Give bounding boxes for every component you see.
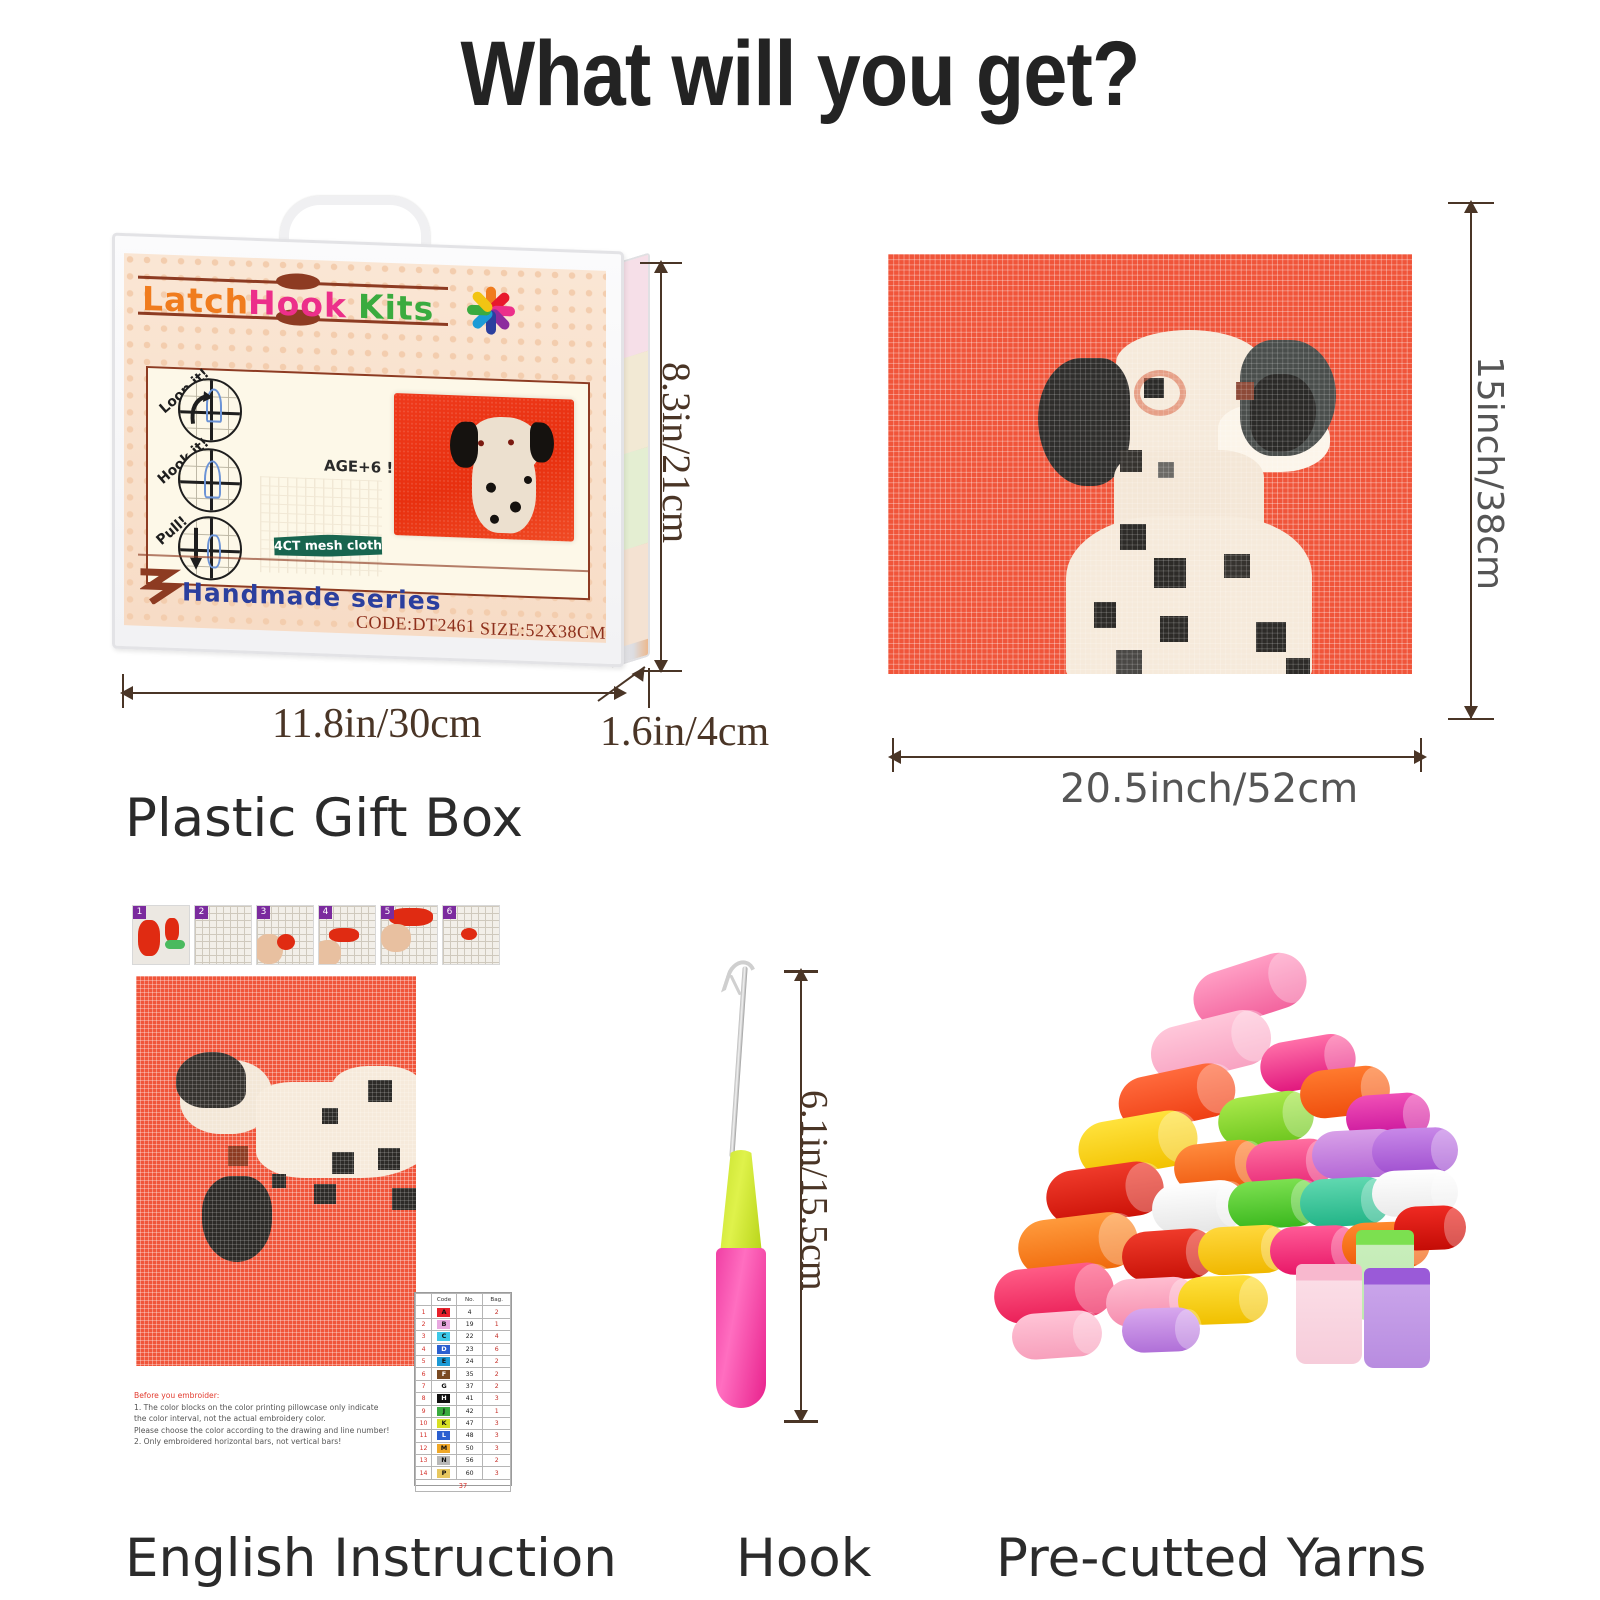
page-title: What will you get? bbox=[112, 22, 1488, 127]
legend-number: 47 bbox=[456, 1417, 483, 1429]
dim-tick bbox=[784, 970, 818, 973]
age-tag: AGE+6 ! bbox=[324, 456, 393, 477]
caption-instruction: English Instruction bbox=[125, 1528, 617, 1589]
legend-index: 4 bbox=[416, 1343, 432, 1355]
legend-swatch: D bbox=[437, 1345, 450, 1354]
step-diagram-loop bbox=[178, 377, 242, 443]
legend-number: 42 bbox=[456, 1405, 483, 1417]
legend-row: 10K473 bbox=[416, 1417, 511, 1429]
legend-swatch: J bbox=[437, 1407, 450, 1416]
legend-color-code: E bbox=[432, 1355, 457, 1367]
dim-label-canvas-width: 20.5inch/52cm bbox=[1060, 766, 1358, 812]
legend-number: 41 bbox=[456, 1393, 483, 1405]
legend-index: 8 bbox=[416, 1393, 432, 1405]
step-thumbnail: 1 bbox=[132, 905, 190, 965]
legend-bag: 1 bbox=[483, 1318, 511, 1330]
thumb-yarn bbox=[165, 918, 179, 942]
legend-number: 50 bbox=[456, 1442, 483, 1454]
instruction-chart bbox=[136, 976, 416, 1366]
legend-number: 4 bbox=[456, 1306, 483, 1318]
legend-swatch: B bbox=[437, 1320, 450, 1329]
legend-index: 9 bbox=[416, 1405, 432, 1417]
legend-swatch: C bbox=[437, 1332, 450, 1341]
notice-line: the color interval, not the actual embro… bbox=[134, 1413, 402, 1425]
legend-swatch: A bbox=[437, 1308, 450, 1317]
step-thumbnail: 6 bbox=[442, 905, 500, 965]
hook-handle-upper bbox=[720, 1150, 762, 1254]
legend-color-code: F bbox=[432, 1368, 457, 1380]
caption-yarns: Pre-cutted Yarns bbox=[996, 1528, 1426, 1589]
legend-color-code: M bbox=[432, 1442, 457, 1454]
legend-swatch: F bbox=[437, 1370, 450, 1379]
legend-index: 11 bbox=[416, 1430, 432, 1442]
yarn-roll bbox=[1011, 1309, 1104, 1361]
notice-heading: Before you embroider: bbox=[134, 1390, 402, 1402]
color-legend-table: Code No. Bag. 1A422B1913C2244D2365E2426F… bbox=[414, 1292, 512, 1486]
legend-color-code: L bbox=[432, 1430, 457, 1442]
legend-bag: 3 bbox=[483, 1442, 511, 1454]
thumb-number: 6 bbox=[443, 906, 456, 919]
box-front-artwork: Latch Hook Kits Loop it! bbox=[124, 253, 606, 643]
legend-bag: 1 bbox=[483, 1405, 511, 1417]
legend-index: 2 bbox=[416, 1318, 432, 1330]
diagram-arrow-down-icon bbox=[180, 517, 240, 579]
legend-number: 19 bbox=[456, 1318, 483, 1330]
notice-line: 2. Only embroidered horizontal bars, not… bbox=[134, 1436, 402, 1448]
legend-bag: 3 bbox=[483, 1430, 511, 1442]
gift-box-illustration: Latch Hook Kits Loop it! bbox=[112, 196, 652, 666]
dim-label-box-width: 11.8in/30cm bbox=[272, 700, 482, 748]
dog-ear-right bbox=[530, 422, 554, 463]
legend-number: 37 bbox=[456, 1380, 483, 1392]
brand-word-kits: Kits bbox=[358, 287, 434, 329]
legend-number: 24 bbox=[456, 1355, 483, 1367]
legend-total: 37 bbox=[416, 1479, 511, 1491]
legend-row: 13N562 bbox=[416, 1455, 511, 1467]
mesh-ribbon-label: 4CT mesh cloth bbox=[274, 534, 383, 557]
pre-cut-yarn-pile bbox=[960, 930, 1460, 1430]
step-thumbnail: 3 bbox=[256, 905, 314, 965]
dim-tick bbox=[784, 1420, 818, 1423]
legend-index: 6 bbox=[416, 1368, 432, 1380]
legend-number: 56 bbox=[456, 1455, 483, 1467]
legend-bag: 2 bbox=[483, 1355, 511, 1367]
dim-tick bbox=[640, 262, 682, 264]
before-you-embroider-notice: Before you embroider: 1. The color block… bbox=[134, 1390, 402, 1448]
dog-spot bbox=[490, 515, 499, 524]
yarn-bundle-purple bbox=[1364, 1268, 1430, 1368]
dim-line-canvas-width bbox=[894, 756, 1422, 758]
legend-index: 3 bbox=[416, 1331, 432, 1343]
step-diagram-hook bbox=[178, 447, 242, 513]
legend-row: 12M503 bbox=[416, 1442, 511, 1454]
legend-color-code: J bbox=[432, 1405, 457, 1417]
thumb-number: 1 bbox=[133, 906, 146, 919]
dog-spot bbox=[524, 476, 532, 484]
legend-row: 9J421 bbox=[416, 1405, 511, 1417]
thumb-number: 2 bbox=[195, 906, 208, 919]
thumb-yarn bbox=[277, 934, 295, 950]
legend-bag: 2 bbox=[483, 1306, 511, 1318]
legend-row: 5E242 bbox=[416, 1355, 511, 1367]
legend-bag: 2 bbox=[483, 1368, 511, 1380]
legend-swatch: P bbox=[437, 1469, 450, 1478]
zigzag-decoration-icon bbox=[140, 566, 182, 606]
latch-hook-canvas bbox=[888, 254, 1412, 674]
thumb-yarn bbox=[461, 928, 477, 940]
legend-swatch: H bbox=[437, 1394, 450, 1403]
thumb-number: 5 bbox=[381, 906, 394, 919]
legend-swatch: G bbox=[437, 1382, 450, 1391]
legend-head-no: No. bbox=[456, 1294, 483, 1306]
step-thumbnail: 2 bbox=[194, 905, 252, 965]
legend-index: 10 bbox=[416, 1417, 432, 1429]
legend-row: 1A42 bbox=[416, 1306, 511, 1318]
legend-color-code: K bbox=[432, 1417, 457, 1429]
yarn-bundle-pink bbox=[1296, 1264, 1362, 1364]
english-instruction-sheet: 1 2 3 4 5 bbox=[122, 900, 522, 1500]
legend-bag: 2 bbox=[483, 1455, 511, 1467]
legend-head-idx bbox=[416, 1294, 432, 1306]
dog-spot bbox=[510, 501, 521, 512]
hook-handle-lower bbox=[716, 1248, 766, 1408]
box-inner-panel: Loop it! Hook it! bbox=[146, 366, 590, 600]
legend-head-code: Code bbox=[432, 1294, 457, 1306]
hook-tip-icon bbox=[721, 956, 761, 1001]
dim-label-canvas-height: 15inch/38cm bbox=[1469, 356, 1510, 590]
dim-tick bbox=[648, 668, 650, 708]
chart-grid-overlay bbox=[136, 976, 416, 1366]
dog-ear-left bbox=[450, 421, 478, 468]
thumb-hand bbox=[381, 924, 411, 952]
notice-line: 1. The color blocks on the color printin… bbox=[134, 1402, 402, 1414]
legend-swatch: L bbox=[437, 1431, 450, 1440]
legend-header-row: Code No. Bag. bbox=[416, 1294, 511, 1306]
legend-color-code: P bbox=[432, 1467, 457, 1479]
legend-row: 6F352 bbox=[416, 1368, 511, 1380]
legend-swatch: K bbox=[437, 1419, 450, 1428]
legend-row: 7G372 bbox=[416, 1380, 511, 1392]
legend-number: 48 bbox=[456, 1430, 483, 1442]
dog-spot bbox=[486, 482, 496, 492]
legend-number: 35 bbox=[456, 1368, 483, 1380]
legend-color-code: G bbox=[432, 1380, 457, 1392]
notice-line: Please choose the color according to the… bbox=[134, 1425, 402, 1437]
step-thumbnail: 4 bbox=[318, 905, 376, 965]
legend-color-code: H bbox=[432, 1393, 457, 1405]
legend-row: 4D236 bbox=[416, 1343, 511, 1355]
dog-eye-left bbox=[478, 440, 484, 446]
infographic-page: What will you get? Latch Hook Kits bbox=[0, 0, 1600, 1600]
legend-number: 23 bbox=[456, 1343, 483, 1355]
legend-color-code: C bbox=[432, 1331, 457, 1343]
legend-row: 2B191 bbox=[416, 1318, 511, 1330]
dim-tick bbox=[1448, 718, 1494, 720]
legend-bag: 6 bbox=[483, 1343, 511, 1355]
legend-body: 1A422B1913C2244D2365E2426F3527G3728H4139… bbox=[416, 1306, 511, 1492]
legend-bag: 2 bbox=[483, 1380, 511, 1392]
legend-swatch: N bbox=[437, 1456, 450, 1465]
legend-row: 11L483 bbox=[416, 1430, 511, 1442]
step-thumbnail-strip: 1 2 3 4 5 bbox=[132, 905, 500, 965]
product-code: CODE:DT2461 bbox=[356, 612, 476, 637]
diagram-arrow-icon bbox=[180, 379, 240, 441]
pinwheel-logo-icon bbox=[464, 284, 516, 338]
legend-bag: 3 bbox=[483, 1417, 511, 1429]
thumb-number: 3 bbox=[257, 906, 270, 919]
yarn-roll bbox=[1121, 1307, 1200, 1354]
legend-bag: 3 bbox=[483, 1467, 511, 1479]
legend-index: 1 bbox=[416, 1306, 432, 1318]
thumb-yarn bbox=[138, 920, 160, 956]
dim-tick bbox=[122, 674, 124, 708]
dim-tick bbox=[1420, 738, 1422, 772]
legend-head-bag: Bag. bbox=[483, 1294, 511, 1306]
dim-line-box-width bbox=[124, 692, 624, 694]
legend-color-code: N bbox=[432, 1455, 457, 1467]
dim-tick bbox=[1448, 202, 1494, 204]
legend-index: 14 bbox=[416, 1467, 432, 1479]
thumb-tool bbox=[165, 940, 185, 949]
legend-total-row: 37 bbox=[416, 1479, 511, 1491]
thumb-number: 4 bbox=[319, 906, 332, 919]
legend-bag: 4 bbox=[483, 1331, 511, 1343]
legend-row: 3C224 bbox=[416, 1331, 511, 1343]
caption-hook: Hook bbox=[736, 1528, 871, 1589]
brand-word-hook: Hook bbox=[248, 283, 347, 326]
product-preview-photo bbox=[394, 393, 574, 542]
step-diagram-pull bbox=[178, 515, 242, 581]
legend-index: 7 bbox=[416, 1380, 432, 1392]
legend-swatch: E bbox=[437, 1357, 450, 1366]
legend-row: 14P603 bbox=[416, 1467, 511, 1479]
legend-row: 8H413 bbox=[416, 1393, 511, 1405]
dog-eye-right bbox=[508, 439, 514, 445]
dim-label-box-height: 8.3in/21cm bbox=[653, 362, 700, 543]
caption-gift-box: Plastic Gift Box bbox=[125, 788, 523, 849]
yarn-roll bbox=[1371, 1127, 1459, 1176]
legend-index: 13 bbox=[416, 1455, 432, 1467]
legend-index: 12 bbox=[416, 1442, 432, 1454]
step-thumbnail: 5 bbox=[380, 905, 438, 965]
dim-label-box-depth: 1.6in/4cm bbox=[600, 708, 769, 756]
diagram-yarn bbox=[204, 460, 221, 499]
thumb-hand bbox=[318, 940, 341, 965]
legend-number: 22 bbox=[456, 1331, 483, 1343]
legend-index: 5 bbox=[416, 1355, 432, 1367]
legend-bag: 3 bbox=[483, 1393, 511, 1405]
legend-color-code: B bbox=[432, 1318, 457, 1330]
legend-grid: Code No. Bag. 1A422B1913C2244D2365E2426F… bbox=[415, 1293, 511, 1492]
brand-word-latch: Latch bbox=[142, 279, 249, 322]
legend-color-code: A bbox=[432, 1306, 457, 1318]
dim-arrow-left bbox=[888, 750, 901, 764]
legend-swatch: M bbox=[437, 1444, 450, 1453]
canvas-mesh-overlay bbox=[888, 254, 1412, 674]
legend-number: 60 bbox=[456, 1467, 483, 1479]
legend-color-code: D bbox=[432, 1343, 457, 1355]
dim-tick bbox=[892, 738, 894, 772]
dim-label-hook-length: 6.1in/15.5cm bbox=[792, 1090, 836, 1291]
